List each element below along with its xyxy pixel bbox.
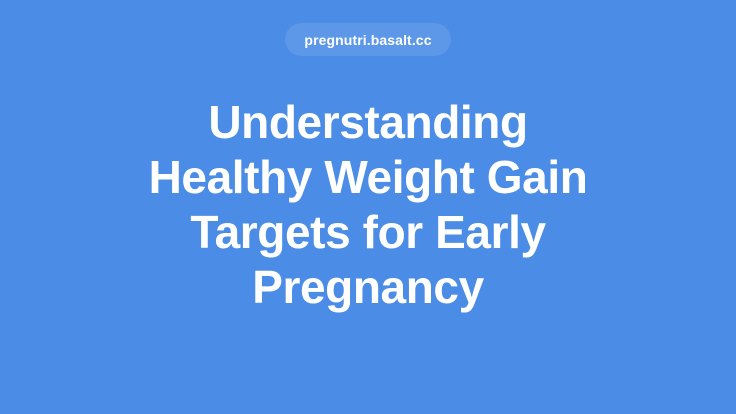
source-url-badge[interactable]: pregnutri.basalt.cc [285, 23, 450, 56]
headline-line-1: Understanding [48, 95, 688, 150]
page-title: Understanding Healthy Weight Gain Target… [48, 95, 688, 315]
headline-block: Understanding Healthy Weight Gain Target… [48, 95, 688, 315]
headline-line-2: Healthy Weight Gain [48, 150, 688, 205]
headline-line-3: Targets for Early [48, 205, 688, 260]
headline-line-4: Pregnancy [48, 260, 688, 315]
title-slide: pregnutri.basalt.cc Understanding Health… [0, 0, 736, 414]
badge-row: pregnutri.basalt.cc [0, 23, 736, 56]
